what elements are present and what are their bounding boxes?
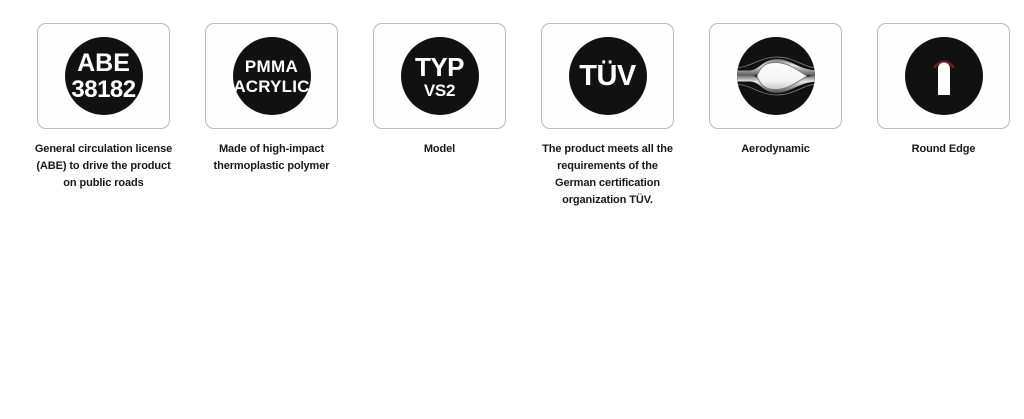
- abe-circle-icon: ABE 38182: [65, 37, 143, 115]
- badge-item-aerodynamic[interactable]: Aerodynamic: [709, 23, 842, 209]
- badge-card-pmma[interactable]: PMMA ACRYLIC: [205, 23, 338, 129]
- round-edge-icon: [905, 37, 983, 115]
- pmma-icon-line1: PMMA: [245, 58, 298, 75]
- aerodynamic-airfoil-icon: [737, 37, 815, 115]
- round-edge-bar: [938, 63, 950, 96]
- abe-icon-line2: 38182: [71, 78, 135, 102]
- badge-caption-aerodynamic: Aerodynamic: [706, 141, 846, 158]
- tuv-icon-line1: TÜV: [579, 62, 636, 91]
- badge-item-abe[interactable]: ABE 38182 General circulation license (A…: [37, 23, 170, 209]
- tuv-circle-icon: TÜV: [569, 37, 647, 115]
- badge-card-aerodynamic[interactable]: [709, 23, 842, 129]
- badge-caption-tuv: The product meets all the requirements o…: [538, 141, 678, 209]
- pmma-acrylic-circle-icon: PMMA ACRYLIC: [233, 37, 311, 115]
- badge-card-round-edge[interactable]: [877, 23, 1010, 129]
- badge-item-round-edge[interactable]: Round Edge: [877, 23, 1010, 209]
- badge-item-pmma[interactable]: PMMA ACRYLIC Made of high-impact thermop…: [205, 23, 338, 209]
- badge-item-typ[interactable]: TYP VS2 Model: [373, 23, 506, 209]
- badge-caption-pmma: Made of high-impact thermoplastic polyme…: [202, 141, 342, 175]
- abe-icon-line1: ABE: [77, 51, 130, 76]
- badge-caption-typ: Model: [370, 141, 510, 158]
- badge-card-tuv[interactable]: TÜV: [541, 23, 674, 129]
- badge-card-abe[interactable]: ABE 38182: [37, 23, 170, 129]
- badge-caption-abe: General circulation license (ABE) to dri…: [34, 141, 174, 192]
- badge-card-typ[interactable]: TYP VS2: [373, 23, 506, 129]
- round-edge-profile-glyph: [905, 37, 983, 115]
- airfoil-streamlines-glyph: [737, 37, 815, 115]
- typ-vs2-circle-icon: TYP VS2: [401, 37, 479, 115]
- typ-icon-line2: VS2: [424, 82, 455, 99]
- pmma-icon-line2: ACRYLIC: [233, 78, 309, 95]
- badge-item-tuv[interactable]: TÜV The product meets all the requiremen…: [541, 23, 674, 209]
- feature-badge-grid: ABE 38182 General circulation license (A…: [0, 0, 1024, 209]
- typ-icon-line1: TYP: [415, 54, 464, 80]
- badge-caption-round-edge: Round Edge: [874, 141, 1014, 158]
